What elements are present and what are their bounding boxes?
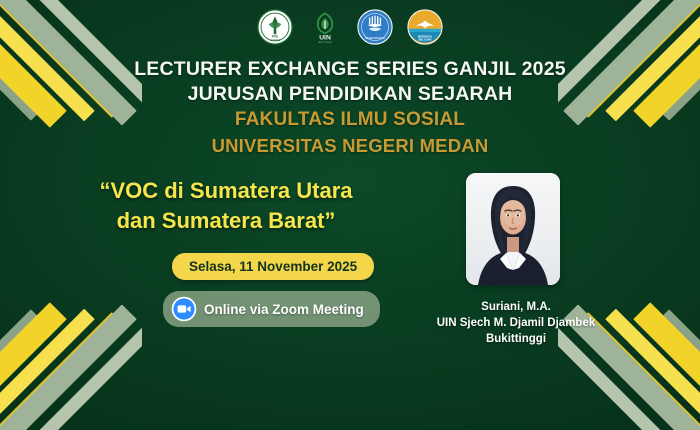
logo-tut-wuri-handayani: KEMENDIKBUD [357,9,393,45]
speaker-name: Suriani, M.A. [398,299,634,315]
poster-canvas: FIS UNIMED UIN BUKITTINGGI KEMENDIKBUD [0,0,700,430]
logo-uin: UIN BUKITTINGGI [307,9,343,45]
session-topic-line-2: dan Sumatera Barat” [16,206,436,236]
session-topic: “VOC di Sumatera Utara dan Sumatera Bara… [16,176,436,236]
platform-badge[interactable]: Online via Zoom Meeting [163,291,380,327]
faculty-title: FAKULTAS ILMU SOSIAL [0,107,700,133]
speaker-portrait-illustration [466,173,560,285]
svg-text:BELAJAR: BELAJAR [418,38,431,42]
corner-decoration-bottom-left [0,276,142,430]
heading-block: LECTURER EXCHANGE SERIES GANJIL 2025 JUR… [0,57,700,159]
logo-row: FIS UNIMED UIN BUKITTINGGI KEMENDIKBUD [0,9,700,45]
speaker-photo [466,173,560,285]
platform-badge-label: Online via Zoom Meeting [204,302,364,317]
department-title: JURUSAN PENDIDIKAN SEJARAH [0,82,700,107]
svg-text:BUKITTINGGI: BUKITTINGGI [318,42,332,44]
university-title: UNIVERSITAS NEGERI MEDAN [0,133,700,159]
session-topic-line-1: “VOC di Sumatera Utara [16,176,436,206]
svg-text:UNIMED: UNIMED [270,38,281,42]
zoom-video-camera-icon [171,296,197,322]
speaker-city: Bukittinggi [398,331,634,347]
speaker-info: Suriani, M.A. UIN Sjech M. Djamil Djambe… [398,299,634,347]
speaker-institution: UIN Sjech M. Djamil Djambek [398,315,634,331]
logo-merdeka-belajar: MERDEKA BELAJAR [407,9,443,45]
svg-text:UIN: UIN [319,35,331,42]
date-badge: Selasa, 11 November 2025 [172,253,374,280]
svg-text:KEMENDIKBUD: KEMENDIKBUD [365,36,385,40]
logo-unimed-seal: FIS UNIMED [257,9,293,45]
svg-text:FIS: FIS [272,34,278,38]
event-series-title: LECTURER EXCHANGE SERIES GANJIL 2025 [0,57,700,82]
